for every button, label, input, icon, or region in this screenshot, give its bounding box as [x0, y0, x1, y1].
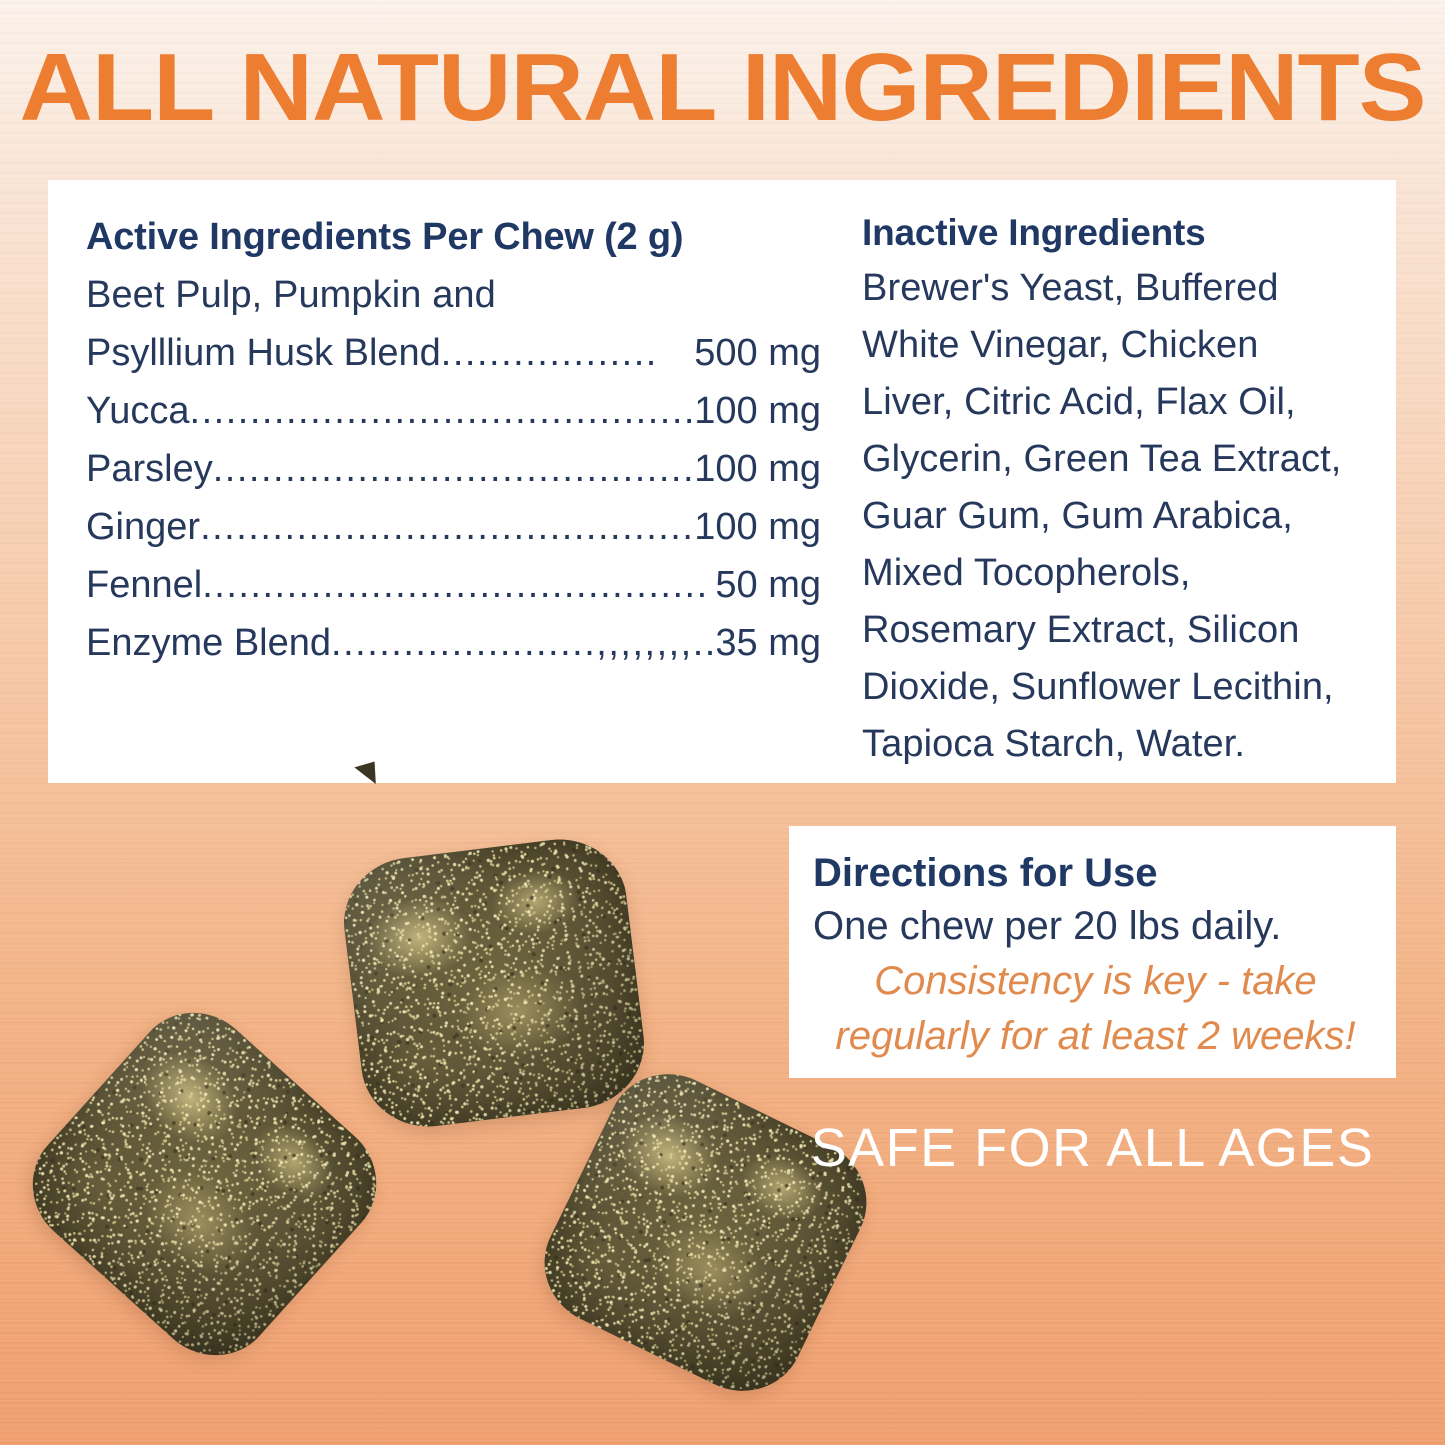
ingredient-amount: 35 mg: [713, 614, 821, 672]
inactive-ingredients-heading: Inactive Ingredients: [862, 210, 1364, 256]
leader-dots: ........................................…: [202, 556, 713, 614]
page-title: ALL NATURAL INGREDIENTS: [0, 38, 1445, 138]
inactive-ingredients-text: Brewer's Yeast, Buffered White Vinegar, …: [862, 260, 1364, 773]
product-infographic: ALL NATURAL INGREDIENTS Active Ingredien…: [0, 0, 1445, 1445]
inactive-line: Tapioca Starch, Water.: [862, 716, 1364, 773]
safe-for-all-ages-badge: SAFE FOR ALL AGES: [789, 1117, 1396, 1179]
ingredient-row: Yucca ..................................…: [86, 382, 821, 440]
leader-dots: ........................................…: [213, 440, 693, 498]
active-ingredients-intro-line: Beet Pulp, Pumpkin and: [86, 266, 838, 324]
ingredient-name: Psylllium Husk Blend: [86, 324, 441, 382]
directions-heading: Directions for Use: [813, 848, 1378, 898]
ingredient-amount: 100 mg: [692, 498, 821, 556]
chew-piece-left: [8, 988, 402, 1381]
active-ingredients-heading: Active Ingredients Per Chew (2 g): [86, 214, 838, 260]
inactive-line: Glycerin, Green Tea Extract,: [862, 431, 1364, 488]
leader-dots: ......................,,,,,,,,........: [331, 614, 713, 672]
ingredient-amount: 50 mg: [713, 556, 821, 614]
ingredient-row: Enzyme Blend ......................,,,,,…: [86, 614, 821, 672]
chew-piece-top: [337, 832, 652, 1135]
ingredient-amount: 500 mg: [692, 324, 821, 382]
ingredient-row: Psylllium Husk Blend .................. …: [86, 324, 821, 382]
directions-note-line-2: regularly for at least 2 weeks!: [813, 1009, 1378, 1064]
inactive-ingredients-column: Inactive Ingredients Brewer's Yeast, Buf…: [838, 180, 1396, 783]
active-ingredients-column: Active Ingredients Per Chew (2 g) Beet P…: [48, 180, 838, 783]
inactive-line: White Vinegar, Chicken: [862, 317, 1364, 374]
inactive-line: Dioxide, Sunflower Lecithin,: [862, 659, 1364, 716]
leader-dots: ..................: [441, 324, 692, 382]
ingredient-row: Ginger .................................…: [86, 498, 821, 556]
ingredient-amount: 100 mg: [692, 440, 821, 498]
ingredient-row: Parsley ................................…: [86, 440, 821, 498]
ingredient-name: Enzyme Blend: [86, 614, 331, 672]
directions-note-line-1: Consistency is key - take: [813, 954, 1378, 1009]
inactive-line: Guar Gum, Gum Arabica,: [862, 488, 1364, 545]
inactive-line: Liver, Citric Acid, Flax Oil,: [862, 374, 1364, 431]
leader-dots: ........................................…: [190, 382, 693, 440]
ingredient-name: Ginger: [86, 498, 200, 556]
directions-dose: One chew per 20 lbs daily.: [813, 898, 1378, 954]
ingredient-name: Fennel: [86, 556, 202, 614]
ingredient-name: Parsley: [86, 440, 213, 498]
ingredient-amount: 100 mg: [692, 382, 821, 440]
inactive-line: Mixed Tocopherols,: [862, 545, 1364, 602]
leader-dots: ........................................…: [200, 498, 692, 556]
directions-card: Directions for Use One chew per 20 lbs d…: [789, 826, 1396, 1078]
ingredient-row: Fennel .................................…: [86, 556, 821, 614]
ingredients-panel: Active Ingredients Per Chew (2 g) Beet P…: [48, 180, 1396, 783]
ingredient-name: Yucca: [86, 382, 190, 440]
inactive-line: Rosemary Extract, Silicon: [862, 602, 1364, 659]
inactive-line: Brewer's Yeast, Buffered: [862, 260, 1364, 317]
